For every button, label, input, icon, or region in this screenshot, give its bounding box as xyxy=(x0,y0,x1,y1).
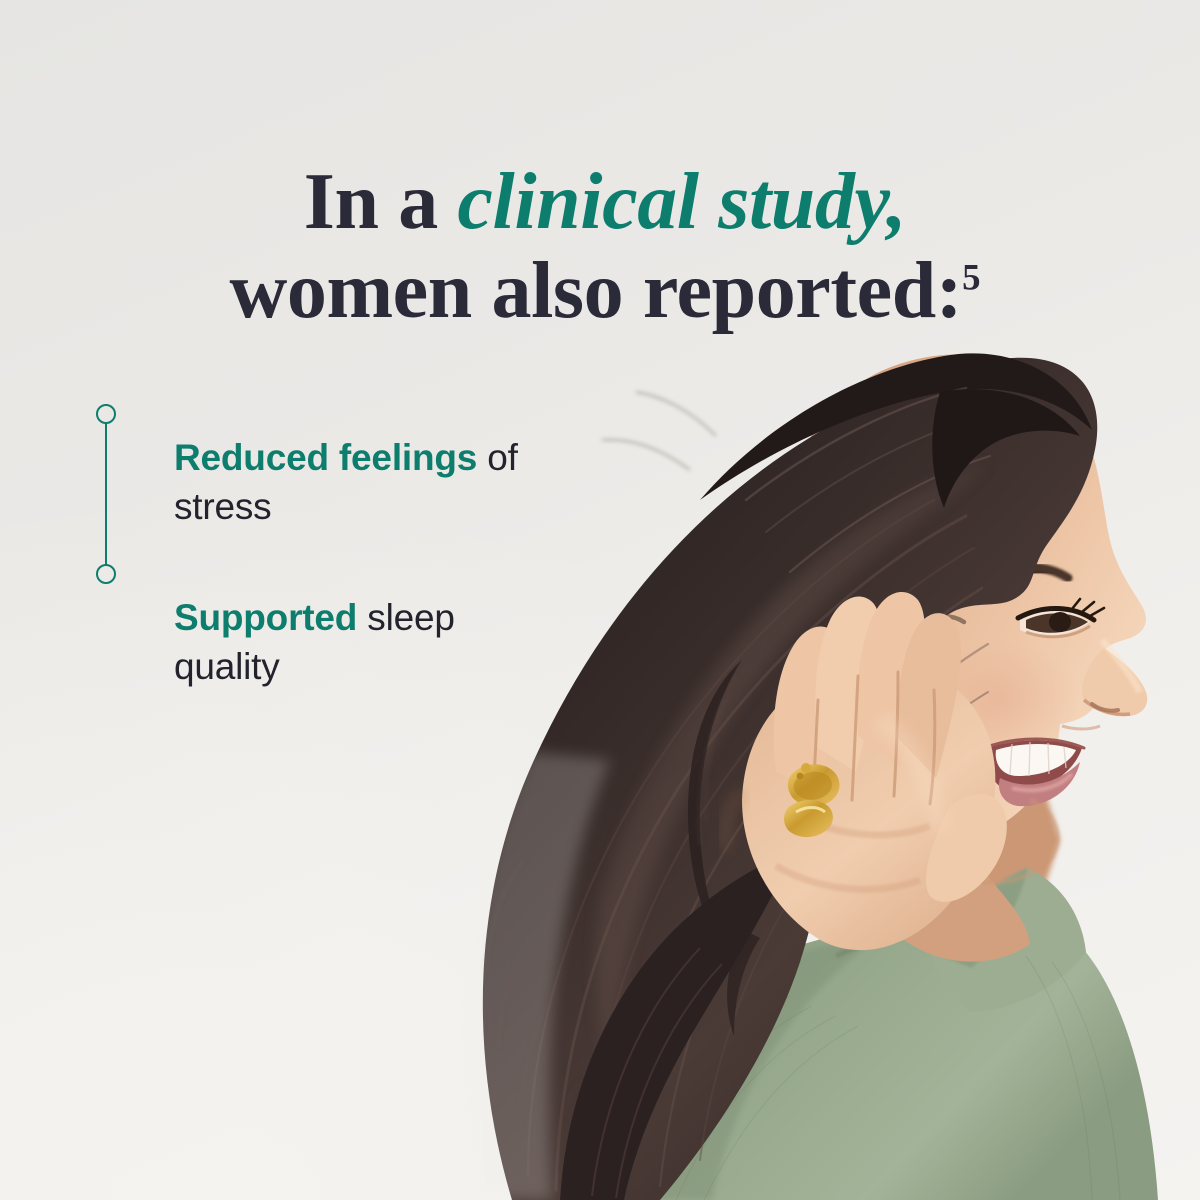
page-title: In a clinical study, women also reported… xyxy=(150,158,1060,337)
headline-rest: women also reported: xyxy=(229,247,962,335)
benefit-item-2-bold: Supported xyxy=(174,597,357,638)
benefit-item-2: Supported sleep quality xyxy=(174,593,566,691)
headline-prefix: In a xyxy=(304,158,458,246)
headline-line-1: In a clinical study, xyxy=(150,158,1060,248)
rail-connector-line xyxy=(105,422,107,566)
timeline-rail xyxy=(96,404,116,584)
bullet-circle-icon-2 xyxy=(96,564,116,584)
bullet-circle-icon-1 xyxy=(96,404,116,424)
headline-line-2: women also reported:5 xyxy=(150,247,1060,337)
benefit-item-1: Reduced feelings of stress xyxy=(174,433,566,531)
benefit-item-1-bold: Reduced feelings xyxy=(174,437,477,478)
promo-card: In a clinical study, women also reported… xyxy=(0,0,1200,1200)
headline-emphasis: clinical study, xyxy=(457,158,906,246)
footnote-marker: 5 xyxy=(962,257,980,298)
